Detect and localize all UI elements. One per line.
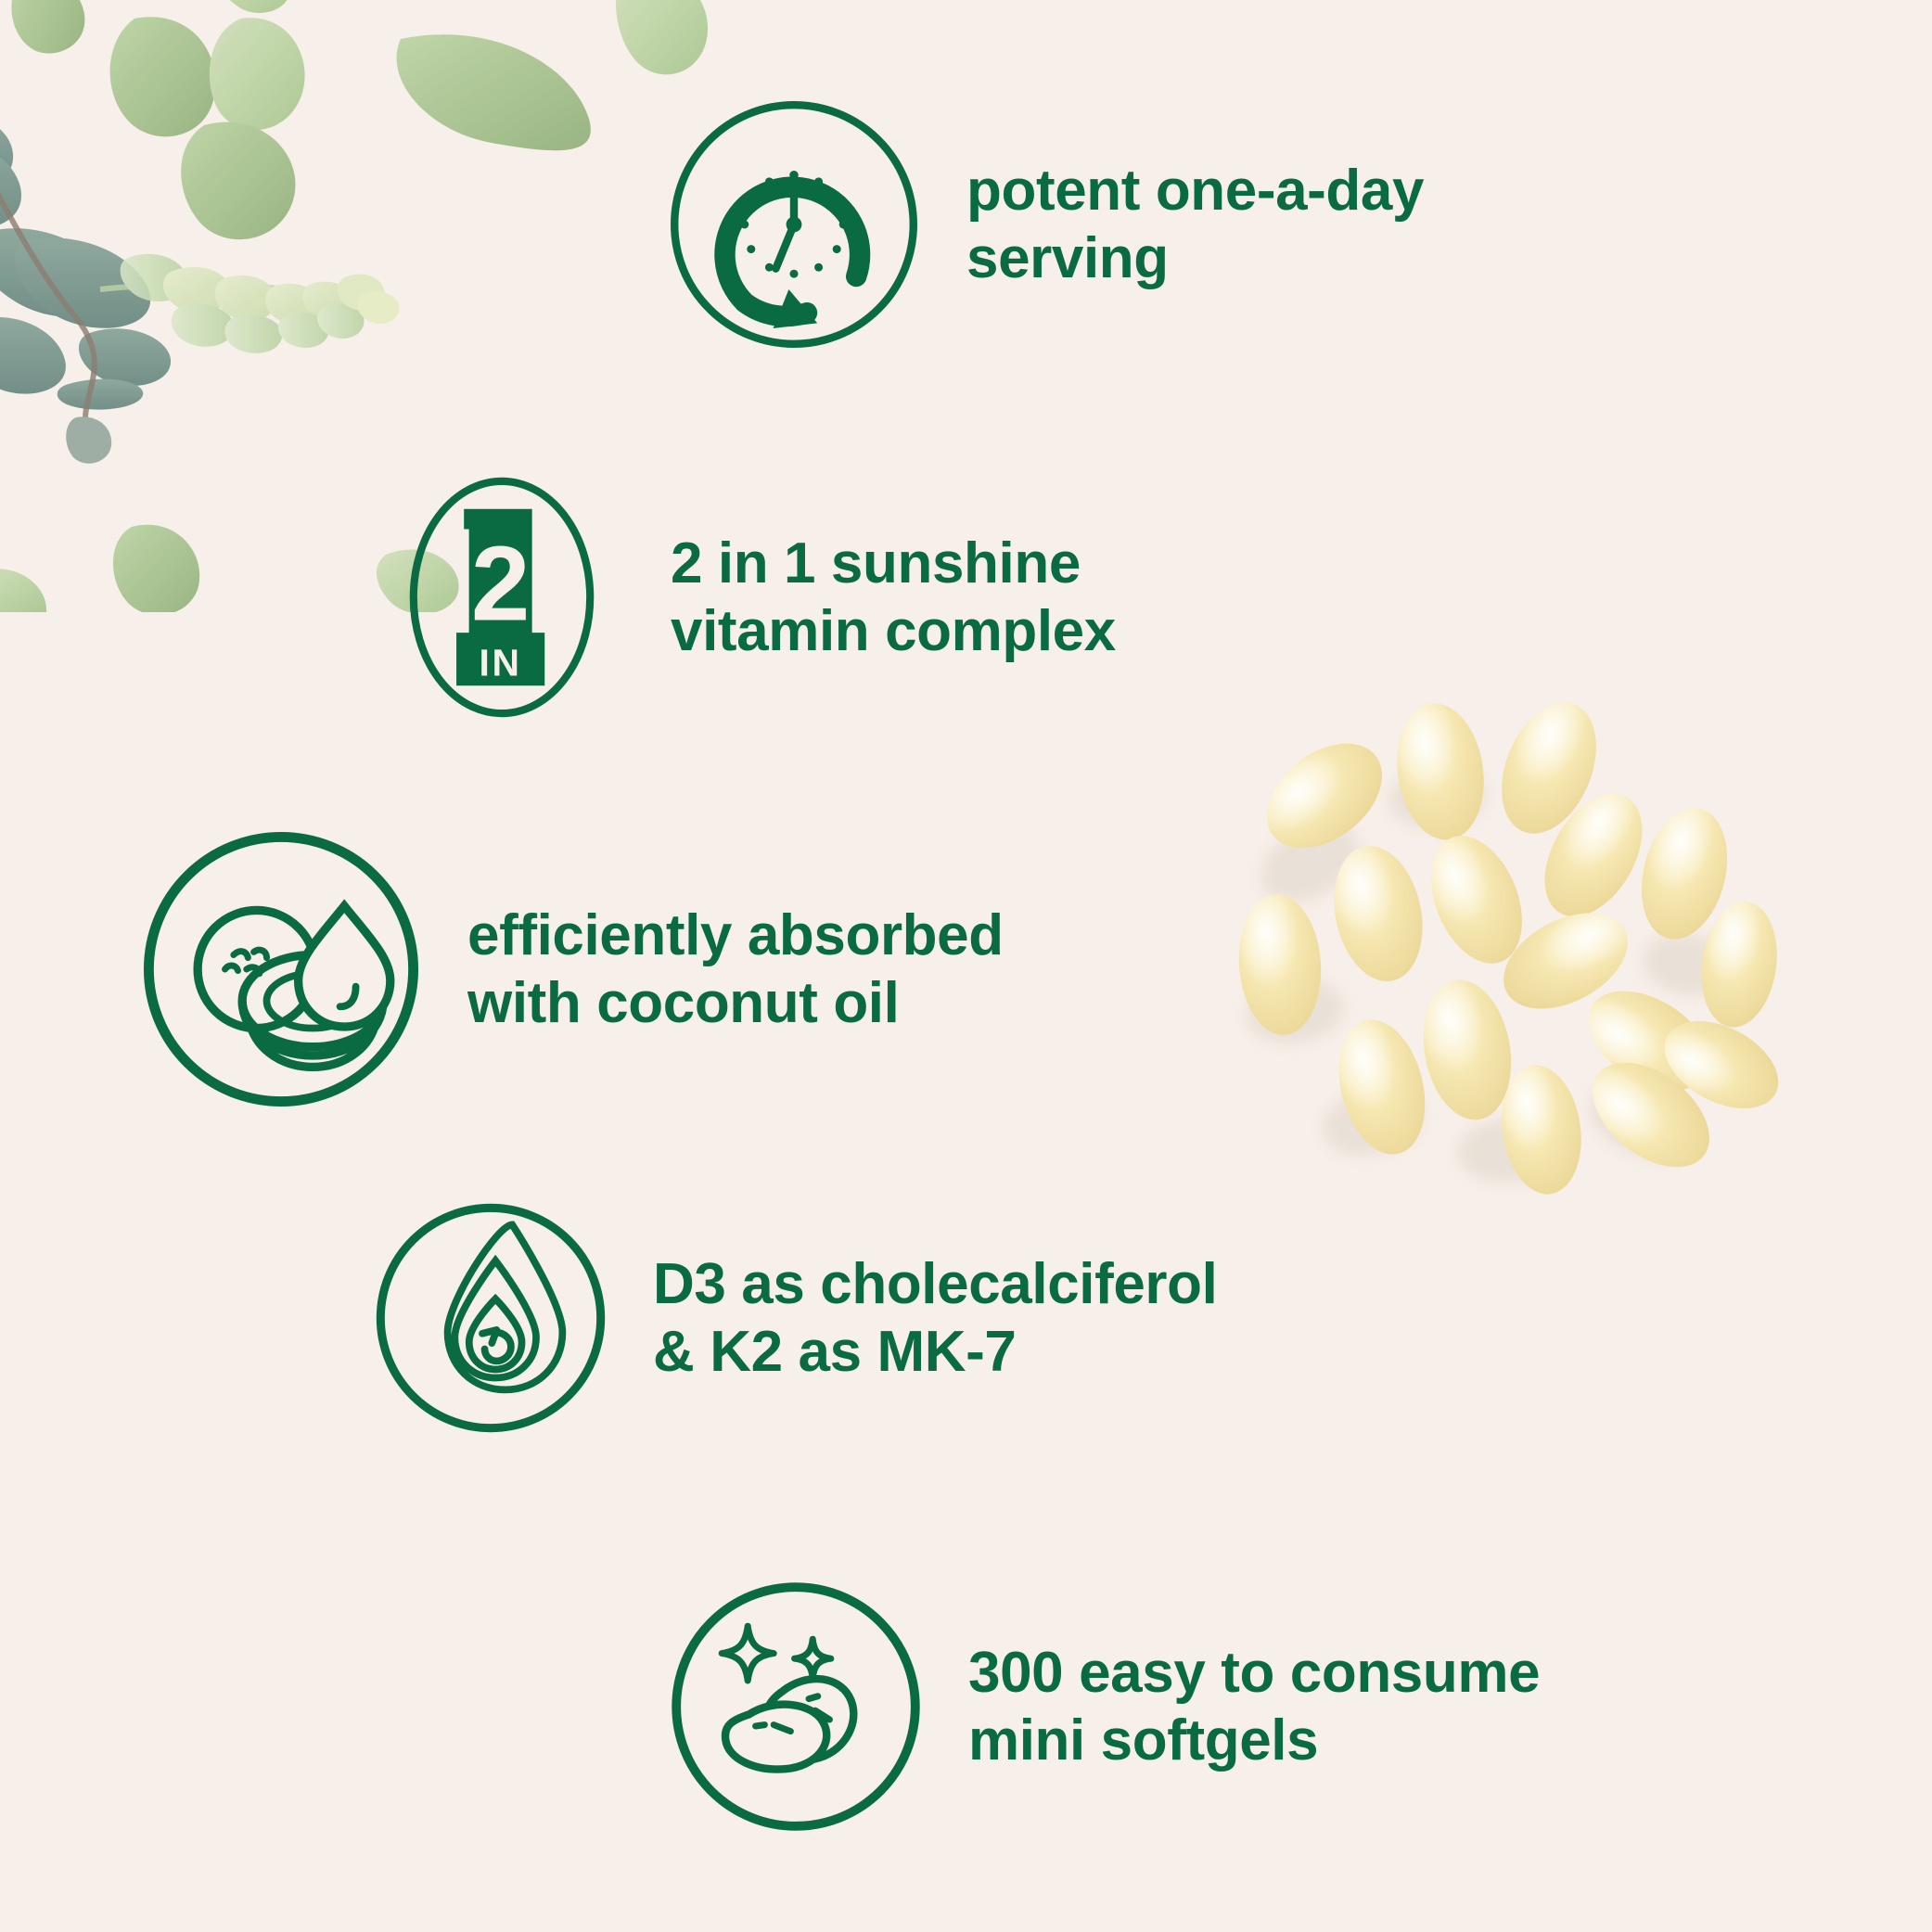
two-in-one-in-label: IN <box>480 641 522 684</box>
eucalyptus-branch-dark <box>0 111 171 464</box>
nested-droplet-spiral-icon <box>371 1198 610 1438</box>
two-in-one-number: 2 <box>471 525 531 643</box>
feature-item-one-a-day: potent one-a-day serving <box>664 95 1424 354</box>
coconut-oil-droplet-icon <box>137 825 425 1113</box>
sparkling-softgels-icon <box>666 1577 926 1836</box>
feature-item-coconut-oil: efficiently absorbed with coconut oil <box>137 825 1004 1113</box>
softgel-capsules-photo <box>1206 686 1781 1261</box>
feature-item-2-in-1: 2 IN 2 in 1 sunshine vitamin complex <box>376 471 1116 723</box>
feature-label: 300 easy to consume mini softgels <box>968 1639 1540 1774</box>
clock-refresh-icon <box>664 95 924 354</box>
eucalyptus-sprig-light <box>100 254 400 353</box>
feature-label: efficiently absorbed with coconut oil <box>467 902 1004 1037</box>
infographic-canvas: potent one-a-day serving 2 IN 2 in 1 sun… <box>0 0 1932 1932</box>
feature-label: potent one-a-day serving <box>966 157 1424 292</box>
feature-item-d3-k2: D3 as cholecalciferol & K2 as MK-7 <box>371 1198 1217 1438</box>
feature-label: D3 as cholecalciferol & K2 as MK-7 <box>653 1250 1217 1386</box>
two-in-one-icon: 2 IN <box>376 471 628 723</box>
feature-item-mini-softgels: 300 easy to consume mini softgels <box>666 1577 1540 1836</box>
feature-label: 2 in 1 sunshine vitamin complex <box>671 530 1116 665</box>
